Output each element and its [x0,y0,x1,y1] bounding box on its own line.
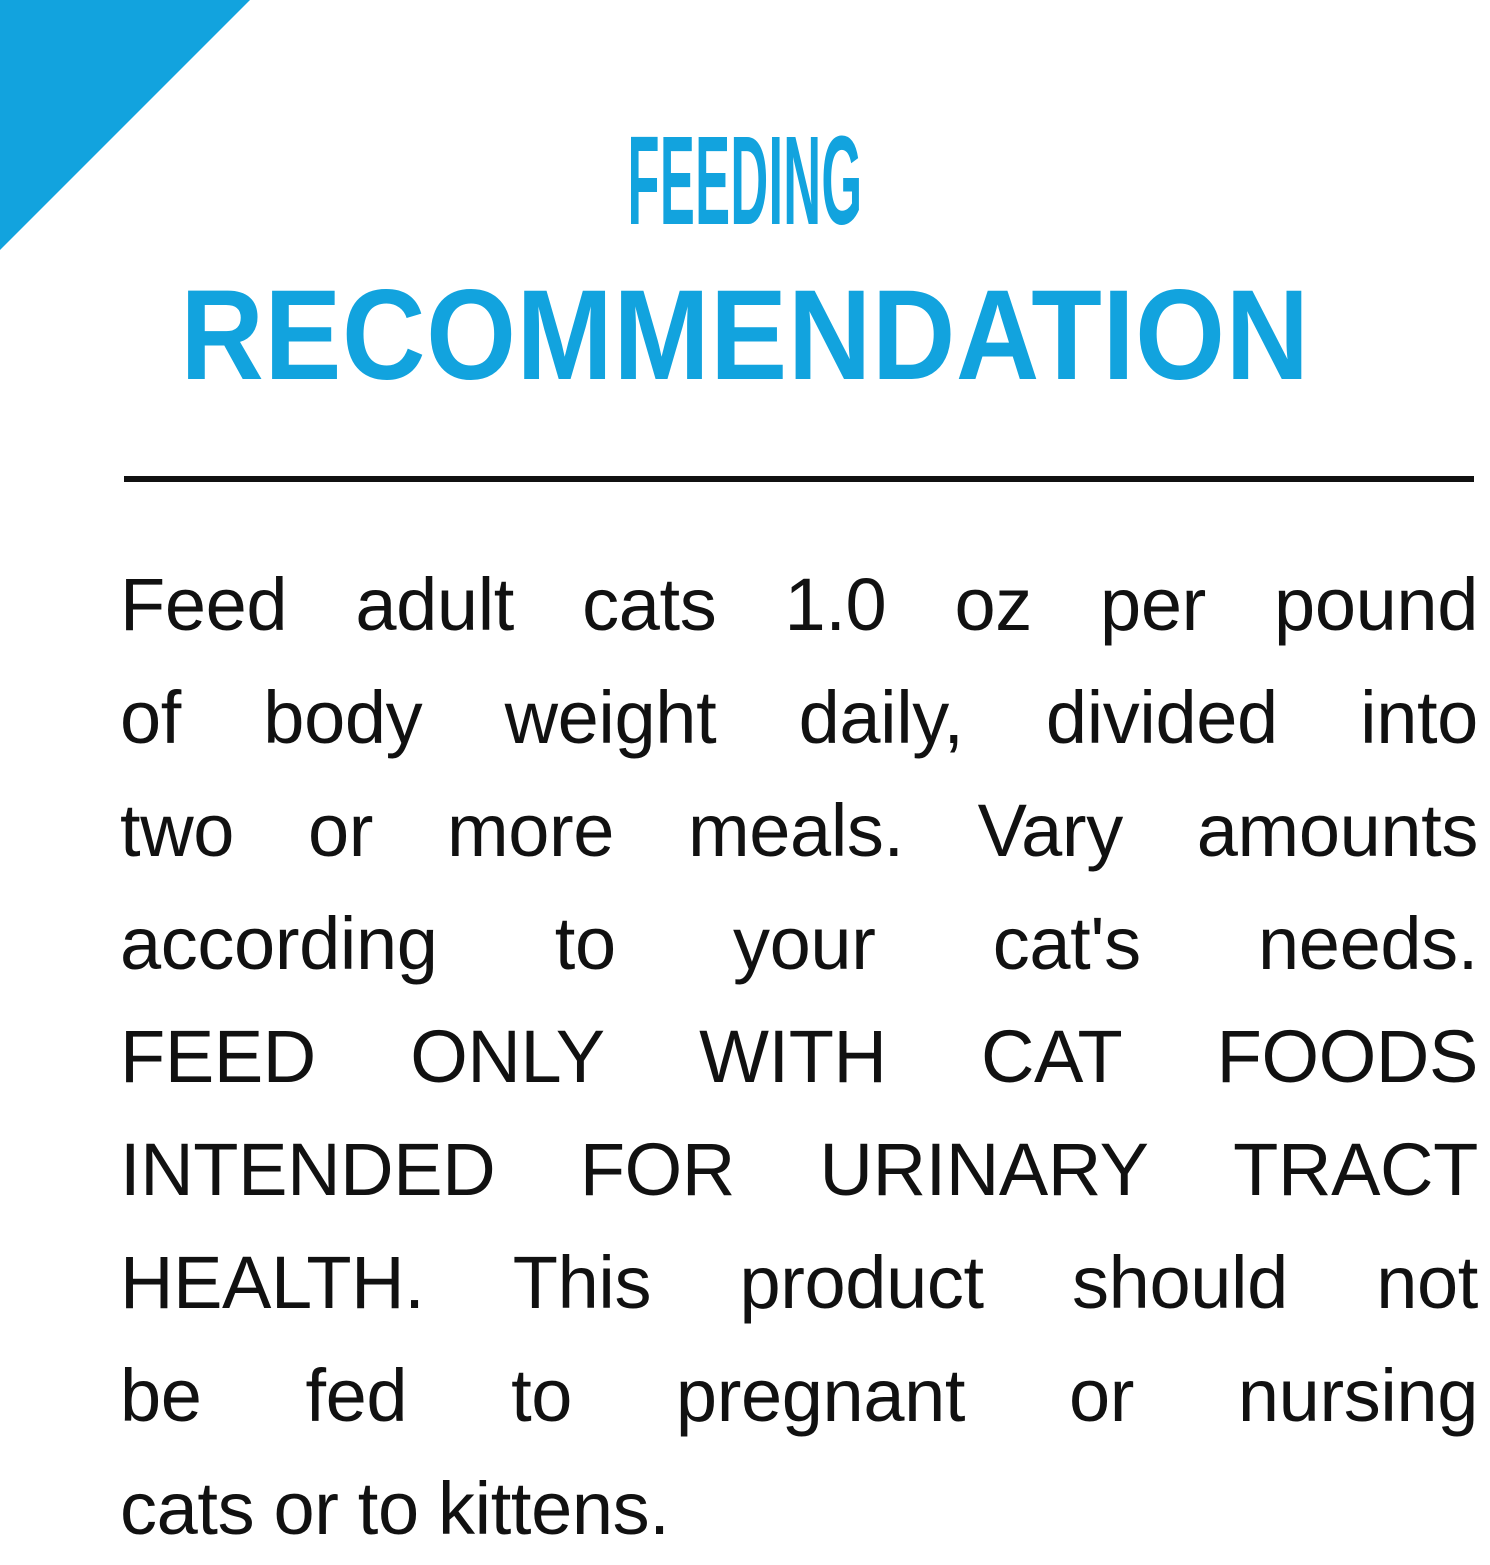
instruction-word: kittens. [438,1452,669,1565]
instruction-word: should [1072,1226,1288,1339]
instruction-word: to [555,887,616,1000]
instruction-word: into [1360,661,1478,774]
page-title: FEEDING RECOMMENDATION [0,118,1490,400]
instruction-word: CAT [981,1000,1122,1113]
instruction-word: pound [1274,548,1478,661]
instruction-word: INTENDED [120,1113,495,1226]
instruction-word: FOODS [1217,1000,1478,1113]
instruction-word: URINARY [820,1113,1149,1226]
instruction-word: of [120,661,181,774]
instruction-word: Vary [978,774,1123,887]
instruction-word: or [308,774,373,887]
instruction-line: ofbodyweightdaily,dividedinto [120,661,1478,774]
instruction-word: WITH [699,1000,887,1113]
instruction-line: accordingtoyourcat'sneeds. [120,887,1478,1000]
page-title-line-2: RECOMMENDATION [73,272,1418,400]
instruction-word: not [1376,1226,1478,1339]
instruction-word: nursing [1238,1339,1478,1452]
instruction-word: weight [505,661,717,774]
instruction-word: or [1069,1339,1134,1452]
instruction-word: oz [954,548,1031,661]
instruction-word: per [1100,548,1206,661]
instruction-word: Feed [120,548,287,661]
instruction-word: cats [120,1452,254,1565]
instruction-line: FEEDONLYWITHCATFOODS [120,1000,1478,1113]
instruction-word: adult [355,548,514,661]
instruction-word: cats [582,548,716,661]
instruction-word: your [733,887,875,1000]
instruction-word: fed [305,1339,407,1452]
instruction-word: or [273,1452,338,1565]
instruction-word: pregnant [676,1339,965,1452]
instruction-word: to [358,1452,419,1565]
instruction-word: 1.0 [785,548,887,661]
instruction-line: befedtopregnantornursing [120,1339,1478,1452]
instruction-word: HEALTH. [120,1226,424,1339]
instruction-line: INTENDEDFORURINARYTRACT [120,1113,1478,1226]
heading-divider [124,476,1474,482]
instruction-word: product [739,1226,983,1339]
instruction-word: cat's [993,887,1141,1000]
instruction-word: needs. [1258,887,1478,1000]
feeding-recommendation-label: FEEDING RECOMMENDATION Feedadultcats1.0o… [0,0,1490,1500]
instruction-line: twoormoremeals.Varyamounts [120,774,1478,887]
instruction-word: FEED [120,1000,316,1113]
instruction-word: TRACT [1233,1113,1478,1226]
instruction-line: Feedadultcats1.0ozperpound [120,548,1478,661]
instruction-word: more [447,774,614,887]
instruction-word: according [120,887,438,1000]
feeding-instructions-text: Feedadultcats1.0ozperpoundofbodyweightda… [120,548,1478,1565]
page-title-line-1: FEEDING [435,118,1055,244]
instruction-line: HEALTH.Thisproductshouldnot [120,1226,1478,1339]
instruction-word: daily, [799,661,964,774]
instruction-word: divided [1046,661,1278,774]
instruction-word: ONLY [410,1000,605,1113]
instruction-word: FOR [580,1113,735,1226]
instruction-word: This [513,1226,651,1339]
instruction-word: be [120,1339,202,1452]
instruction-word: amounts [1197,774,1478,887]
instruction-line: catsortokittens. [120,1452,1478,1565]
instruction-word: to [511,1339,572,1452]
instruction-word: meals. [688,774,904,887]
instruction-word: body [263,661,422,774]
instruction-word: two [120,774,234,887]
